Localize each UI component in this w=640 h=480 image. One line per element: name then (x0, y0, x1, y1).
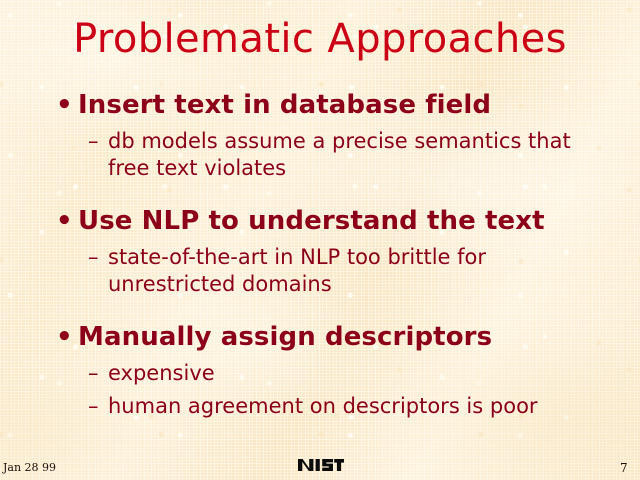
bullet-level2: – human agreement on descriptors is poor (0, 393, 600, 420)
bullet-level1-label: Use NLP to understand the text (78, 206, 545, 236)
bullet-group: • Insert text in database field – db mod… (0, 88, 640, 182)
slide-body: • Insert text in database field – db mod… (0, 88, 640, 428)
nist-logo-icon (298, 455, 344, 475)
bullet-group: • Manually assign descriptors – expensiv… (0, 320, 640, 420)
bullet-level2-label: human agreement on descriptors is poor (108, 393, 600, 420)
page-number: 7 (620, 461, 628, 475)
slide-canvas: Problematic Approaches • Insert text in … (0, 0, 640, 480)
bullet-level2: – expensive (0, 360, 600, 387)
bullet-level2-label: db models assume a precise semantics tha… (108, 128, 600, 182)
bullet-dot-icon: • (56, 88, 73, 122)
bullet-level2-label: expensive (108, 360, 600, 387)
bullet-dot-icon: • (56, 320, 73, 354)
bullet-level1: • Use NLP to understand the text (0, 204, 640, 238)
bullet-dot-icon: • (56, 204, 73, 238)
bullet-level2-label: state-of-the-art in NLP too brittle for … (108, 244, 600, 298)
dash-marker-icon: – (88, 128, 99, 155)
dash-marker-icon: – (88, 393, 99, 420)
slide-title: Problematic Approaches (0, 16, 640, 62)
dash-marker-icon: – (88, 360, 99, 387)
bullet-level2: – db models assume a precise semantics t… (0, 128, 600, 182)
bullet-group: • Use NLP to understand the text – state… (0, 204, 640, 298)
bullet-level1: • Insert text in database field (0, 88, 640, 122)
bullet-level1-label: Insert text in database field (78, 90, 491, 120)
bullet-level1: • Manually assign descriptors (0, 320, 640, 354)
dash-marker-icon: – (88, 244, 99, 271)
bullet-level1-label: Manually assign descriptors (78, 322, 492, 352)
bullet-level2: – state-of-the-art in NLP too brittle fo… (0, 244, 600, 298)
footer-date: Jan 28 99 (3, 461, 56, 474)
